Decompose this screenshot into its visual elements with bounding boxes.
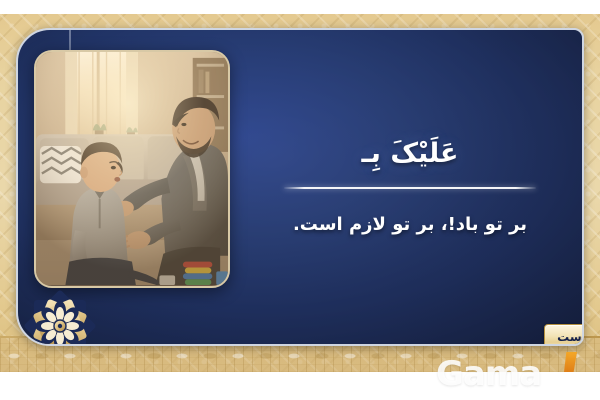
father-and-son-photo <box>34 50 230 288</box>
index-button-label: فهرست <box>557 330 584 344</box>
index-button[interactable]: فهرست <box>544 324 584 346</box>
slide-panel: عَلَیْکَ بِـ بر تو باد!، بر تو لازم است. <box>16 28 584 346</box>
slide-stage: عَلَیْکَ بِـ بر تو باد!، بر تو لازم است. <box>0 0 600 400</box>
islamic-star-medallion-icon <box>24 290 96 346</box>
bottom-white-margin <box>0 372 600 400</box>
text-column: عَلَیْکَ بِـ بر تو باد!، بر تو لازم است. <box>284 134 536 240</box>
text-divider <box>284 187 536 189</box>
top-white-margin <box>0 0 600 14</box>
index-button-surface[interactable]: فهرست <box>544 324 584 346</box>
arabic-phrase: عَلَیْکَ بِـ <box>284 134 536 173</box>
farsi-translation: بر تو باد!، بر تو لازم است. <box>284 211 536 240</box>
